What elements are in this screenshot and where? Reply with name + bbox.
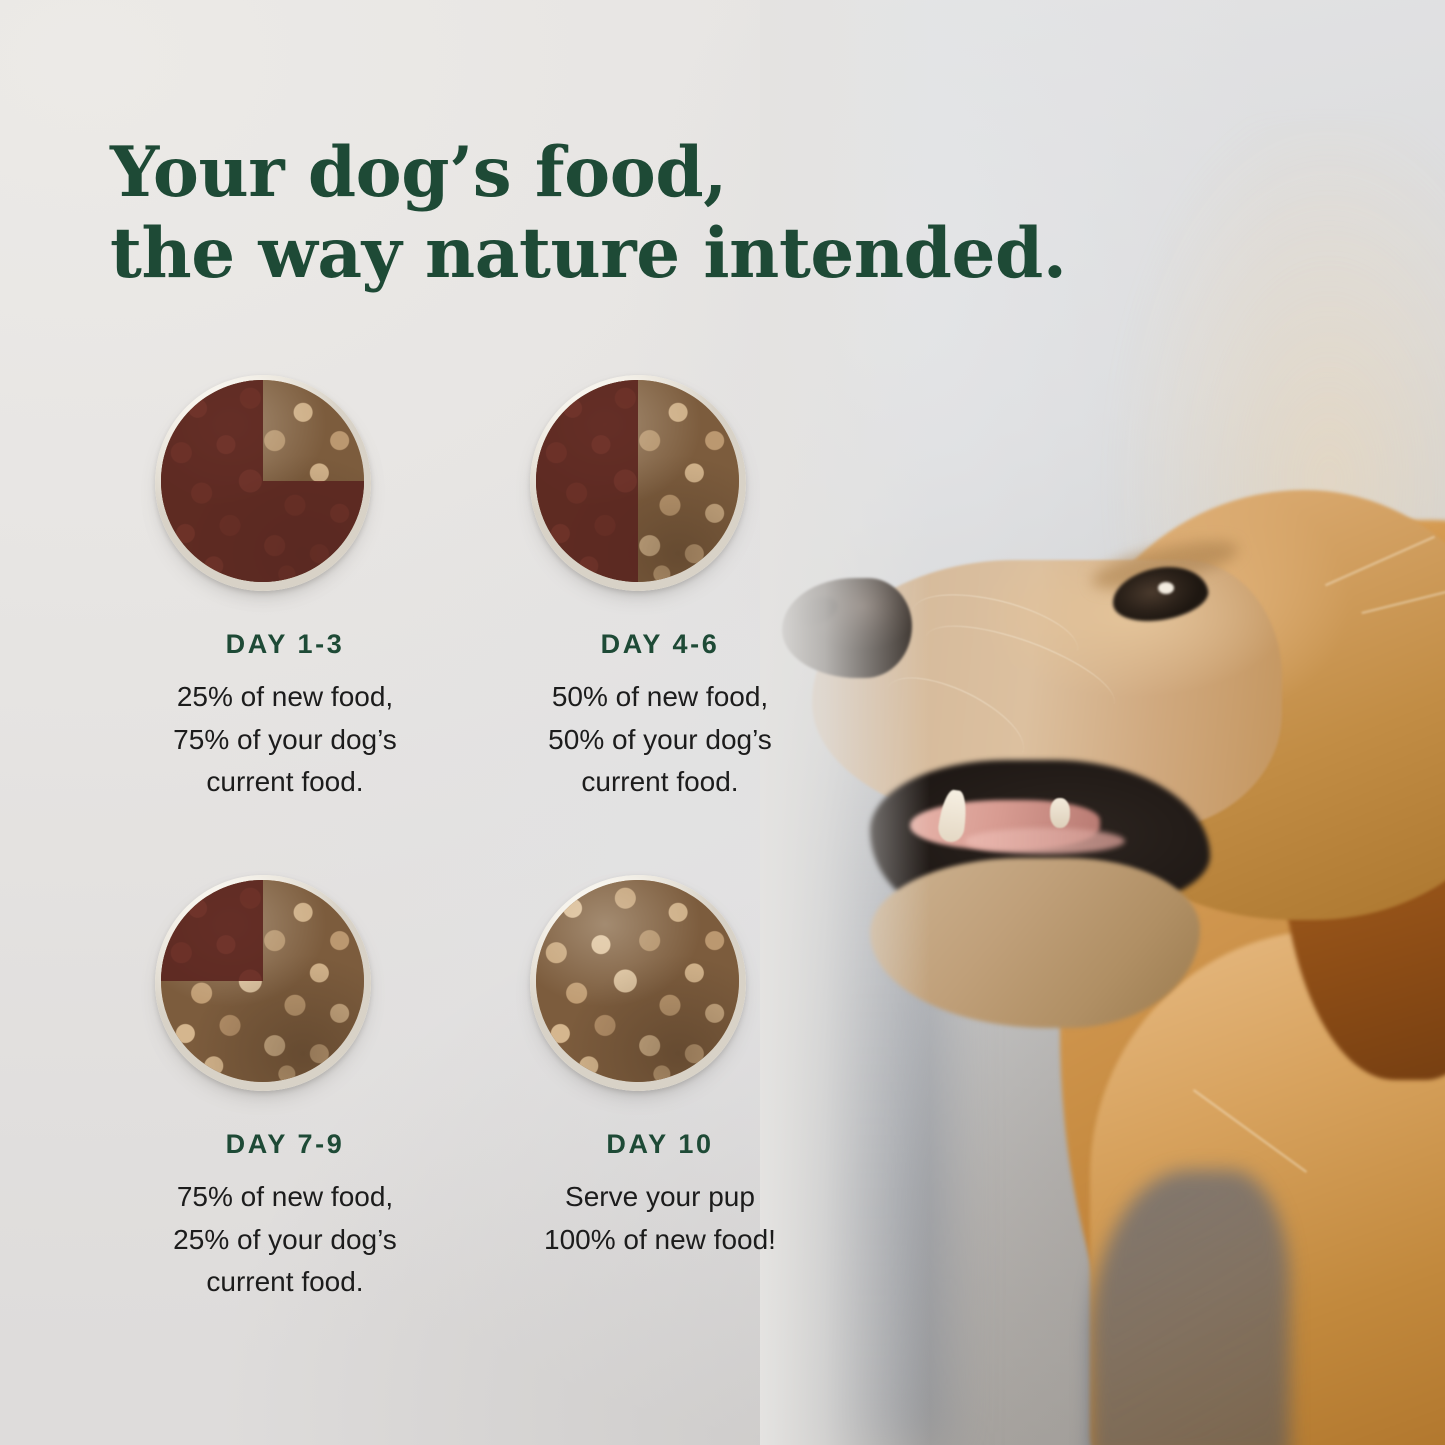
day-description-line: 50% of your dog’s xyxy=(460,719,860,762)
day-description-line: 25% of new food, xyxy=(85,676,485,719)
transition-schedule-grid: DAY 1-3 25% of new food, 75% of your dog… xyxy=(0,0,860,1445)
day-label: DAY 10 xyxy=(460,1129,860,1160)
day-description-line: Serve your pup xyxy=(460,1176,860,1219)
day-label: DAY 1-3 xyxy=(85,629,485,660)
day-description: Serve your pup 100% of new food! xyxy=(460,1176,860,1261)
bowl-wrap-4 xyxy=(460,875,860,1107)
day-description-line: current food. xyxy=(460,761,860,804)
dog-gums xyxy=(965,828,1125,854)
day-description-line: 100% of new food! xyxy=(460,1219,860,1262)
old-food-tint-top-left xyxy=(161,880,263,981)
dog-food-bowl-icon xyxy=(530,875,746,1091)
kibble-shading xyxy=(536,880,739,1082)
bowl-wrap-1 xyxy=(85,375,485,607)
bowl-interior xyxy=(536,880,739,1082)
day-description-line: 50% of new food, xyxy=(460,676,860,719)
day-description-line: 75% of new food, xyxy=(85,1176,485,1219)
day-description-line: current food. xyxy=(85,761,485,804)
schedule-step-2: DAY 4-6 50% of new food, 50% of your dog… xyxy=(460,375,860,804)
bowl-interior xyxy=(161,880,364,1082)
old-food-tint-bottom-half xyxy=(161,481,364,582)
bowl-wrap-3 xyxy=(85,875,485,1107)
dog-eye-glint xyxy=(1158,582,1174,594)
day-description: 25% of new food, 75% of your dog’s curre… xyxy=(85,676,485,804)
day-label: DAY 4-6 xyxy=(460,629,860,660)
dog-food-bowl-icon xyxy=(155,375,371,591)
old-food-tint-left-half xyxy=(536,380,638,582)
dog-molar-tooth xyxy=(1050,798,1070,828)
schedule-step-4: DAY 10 Serve your pup 100% of new food! xyxy=(460,875,860,1261)
day-label: DAY 7-9 xyxy=(85,1129,485,1160)
dog-food-bowl-icon xyxy=(530,375,746,591)
day-description-line: 25% of your dog’s xyxy=(85,1219,485,1262)
day-description: 75% of new food, 25% of your dog’s curre… xyxy=(85,1176,485,1304)
day-description-line: current food. xyxy=(85,1261,485,1304)
bowl-interior xyxy=(536,380,739,582)
schedule-step-1: DAY 1-3 25% of new food, 75% of your dog… xyxy=(85,375,485,804)
bowl-wrap-2 xyxy=(460,375,860,607)
day-description-line: 75% of your dog’s xyxy=(85,719,485,762)
day-description: 50% of new food, 50% of your dog’s curre… xyxy=(460,676,860,804)
dog-food-bowl-icon xyxy=(155,875,371,1091)
schedule-step-3: DAY 7-9 75% of new food, 25% of your dog… xyxy=(85,875,485,1304)
old-food-tint-top-left xyxy=(161,380,263,481)
bowl-interior xyxy=(161,380,364,582)
infographic-canvas: Your dog’s food, the way nature intended… xyxy=(0,0,1445,1445)
